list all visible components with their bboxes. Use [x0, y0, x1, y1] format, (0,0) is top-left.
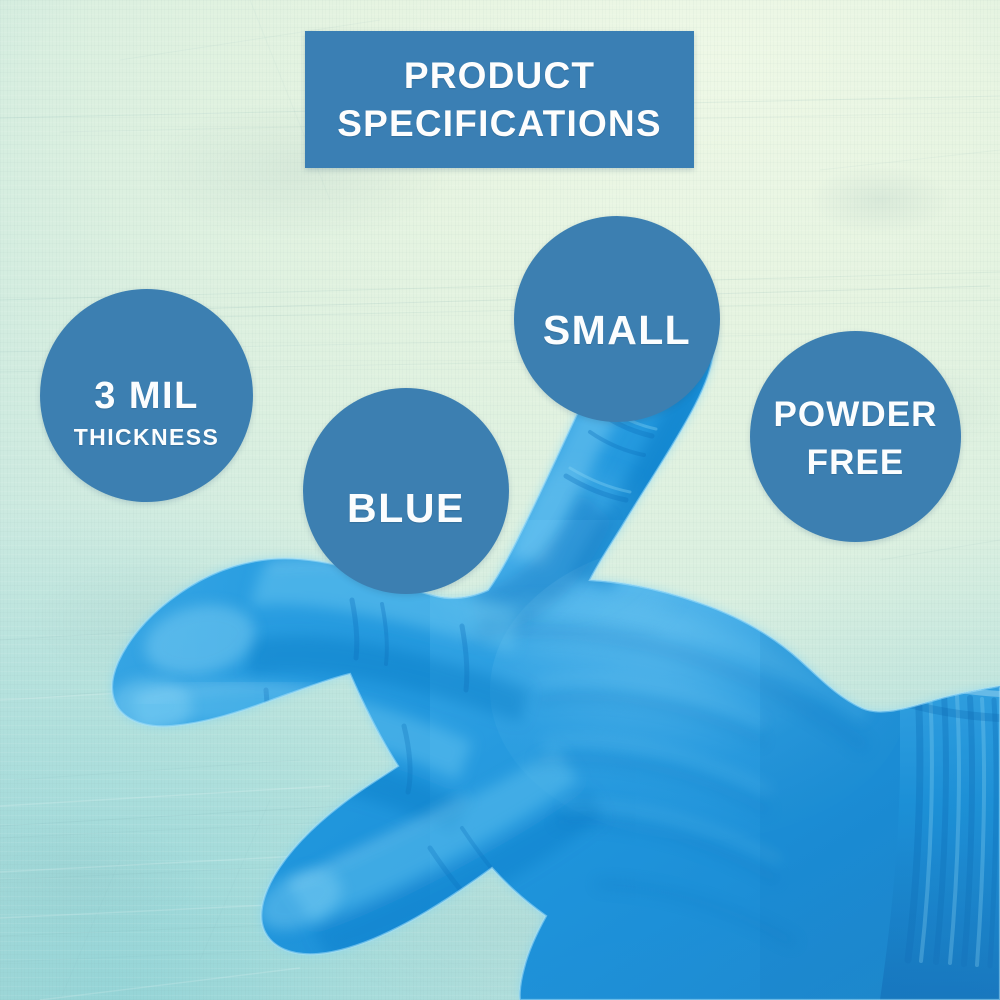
background-vignette: [0, 0, 1000, 1000]
product-specification-graphic: PRODUCT SPECIFICATIONS 3 MIL THICKNESS S…: [0, 0, 1000, 1000]
